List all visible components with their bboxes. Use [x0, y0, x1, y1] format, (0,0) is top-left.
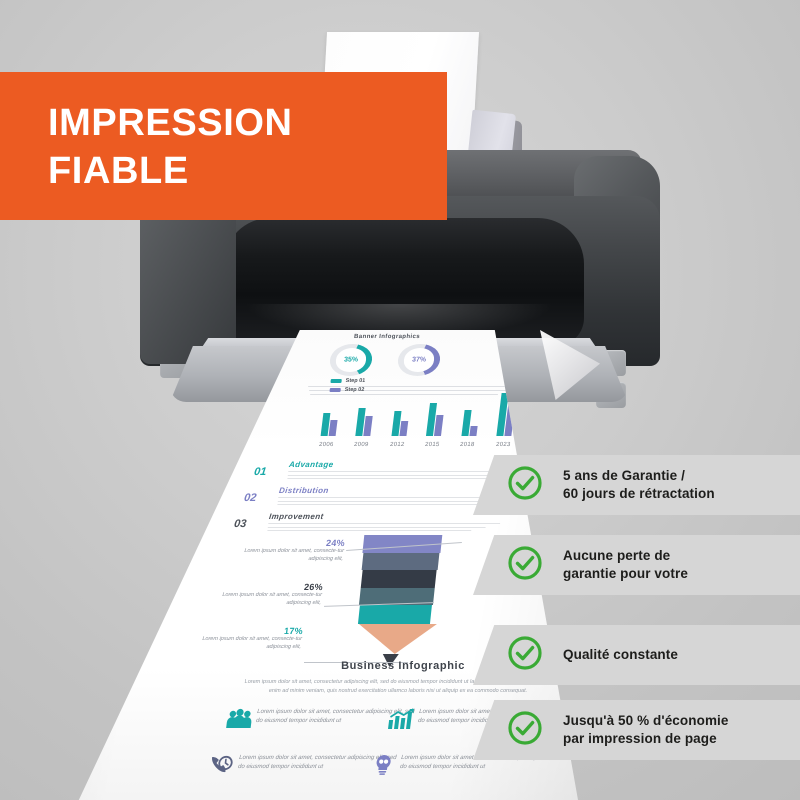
- funnel-segment-3: [360, 570, 437, 588]
- step-body-rule: [278, 501, 496, 502]
- feature-1-line-1: 5 ans de Garantie /: [563, 468, 685, 483]
- step-body-rule: [277, 504, 481, 505]
- feature-text-3: Qualité constante: [563, 646, 678, 664]
- pencil-tip: [356, 624, 437, 654]
- bar-step-02: [434, 415, 444, 436]
- legend-label-step01: Step 01: [345, 378, 365, 384]
- check-circle-icon: [507, 635, 543, 676]
- step-body-rule: [288, 475, 506, 476]
- bar-step-02: [329, 420, 338, 436]
- feature-box-2[interactable]: Aucune perte de garantie pour votre: [473, 535, 800, 595]
- bar-step-02: [399, 421, 408, 436]
- feature-text-1: 5 ans de Garantie / 60 jours de rétracta…: [563, 467, 715, 503]
- headline-line-1: IMPRESSION: [48, 100, 293, 148]
- feature-3-line-1: Qualité constante: [563, 647, 678, 662]
- funnel-stat-value: 17%: [198, 626, 303, 636]
- growth-chart-icon: [386, 708, 419, 734]
- bar-group: [391, 411, 410, 436]
- funnel-stat: 24%Lorem ipsum dolor sit amet, consecte-…: [238, 538, 345, 564]
- headline-banner: IMPRESSION FIABLE: [0, 72, 447, 220]
- page-title: IMPRESSION FIABLE: [48, 100, 293, 196]
- axis-tick-label: 2012: [389, 442, 404, 448]
- bar-chart: 200620092012201520182023: [316, 392, 528, 448]
- axis-tick-label: 2018: [460, 442, 475, 448]
- bar-step-02: [470, 425, 478, 436]
- step-body-rule: [267, 530, 471, 531]
- feature-2-line-1: Aucune perte de: [563, 548, 670, 563]
- feature-box-3[interactable]: Qualité constante: [473, 625, 800, 685]
- feature-text-2: Aucune perte de garantie pour votre: [563, 547, 688, 583]
- legend-item-step01: Step 01: [330, 378, 365, 384]
- feature-2-line-2: garantie pour votre: [563, 566, 688, 581]
- people-group-icon: [224, 708, 257, 734]
- step-title: Advantage: [288, 460, 334, 469]
- check-circle-icon: [507, 710, 543, 751]
- funnel-stat-text: Lorem ipsum dolor sit amet, consecte-tur…: [216, 592, 322, 608]
- donut-chart-1: 35%: [328, 344, 373, 376]
- step-number: 02: [243, 492, 257, 504]
- donut-value-1: 35%: [330, 357, 373, 364]
- step-body-rule: [287, 478, 491, 479]
- donut-chart-2: 37%: [396, 344, 441, 376]
- phone-clock-icon: [206, 754, 239, 780]
- step-body-rule: [268, 527, 486, 528]
- axis-tick-label: 2006: [319, 442, 334, 448]
- bar-group: [426, 403, 446, 436]
- legend-swatch-step01: [330, 379, 341, 383]
- feature-4-line-2: par impression de page: [563, 731, 717, 746]
- funnel-stat-text: Lorem ipsum dolor sit amet, consecte-tur…: [238, 548, 344, 564]
- step-number: 01: [253, 466, 267, 478]
- infographic-title: Banner Infographics: [322, 334, 453, 340]
- bar-group: [356, 408, 375, 436]
- headline-line-2: FIABLE: [48, 148, 293, 196]
- pencil-funnel-graphic: [352, 535, 443, 655]
- funnel-stat-value: 24%: [240, 538, 345, 548]
- step-body-rule: [288, 471, 520, 472]
- feature-text-4: Jusqu'à 50 % d'économie par impression d…: [563, 712, 729, 748]
- feature-box-1[interactable]: 5 ans de Garantie / 60 jours de rétracta…: [473, 455, 800, 515]
- funnel-stat: 26%Lorem ipsum dolor sit amet, consecte-…: [216, 582, 323, 608]
- lightbulb-icon: [368, 754, 401, 780]
- bar-group: [462, 410, 481, 436]
- funnel-stat-text: Lorem ipsum dolor sit amet, consecte-tur…: [196, 636, 302, 652]
- donut-value-2: 37%: [398, 357, 441, 364]
- step-title: Distribution: [278, 486, 329, 495]
- feature-1-line-2: 60 jours de rétractation: [563, 486, 715, 501]
- promo-image: Banner Infographics 35% 37% Step 01 Step…: [0, 0, 800, 800]
- funnel-segment-5: [358, 605, 432, 624]
- check-circle-icon: [507, 545, 543, 586]
- step-body-rule: [278, 497, 510, 498]
- step-title: Improvement: [268, 512, 324, 521]
- axis-tick-label: 2023: [495, 442, 510, 448]
- step-body-rule: [268, 523, 500, 524]
- feature-4-line-1: Jusqu'à 50 % d'économie: [563, 713, 729, 728]
- funnel-segment-2: [361, 553, 439, 570]
- bar-step-02: [364, 416, 373, 436]
- feature-box-4[interactable]: Jusqu'à 50 % d'économie par impression d…: [473, 700, 800, 760]
- axis-tick-label: 2015: [425, 442, 440, 448]
- bar-group: [321, 413, 340, 436]
- check-circle-icon: [507, 465, 543, 506]
- funnel-stat: 17%Lorem ipsum dolor sit amet, consecte-…: [196, 626, 303, 652]
- step-number: 03: [233, 518, 247, 530]
- axis-tick-label: 2009: [354, 442, 369, 448]
- funnel-stat-value: 26%: [218, 582, 323, 592]
